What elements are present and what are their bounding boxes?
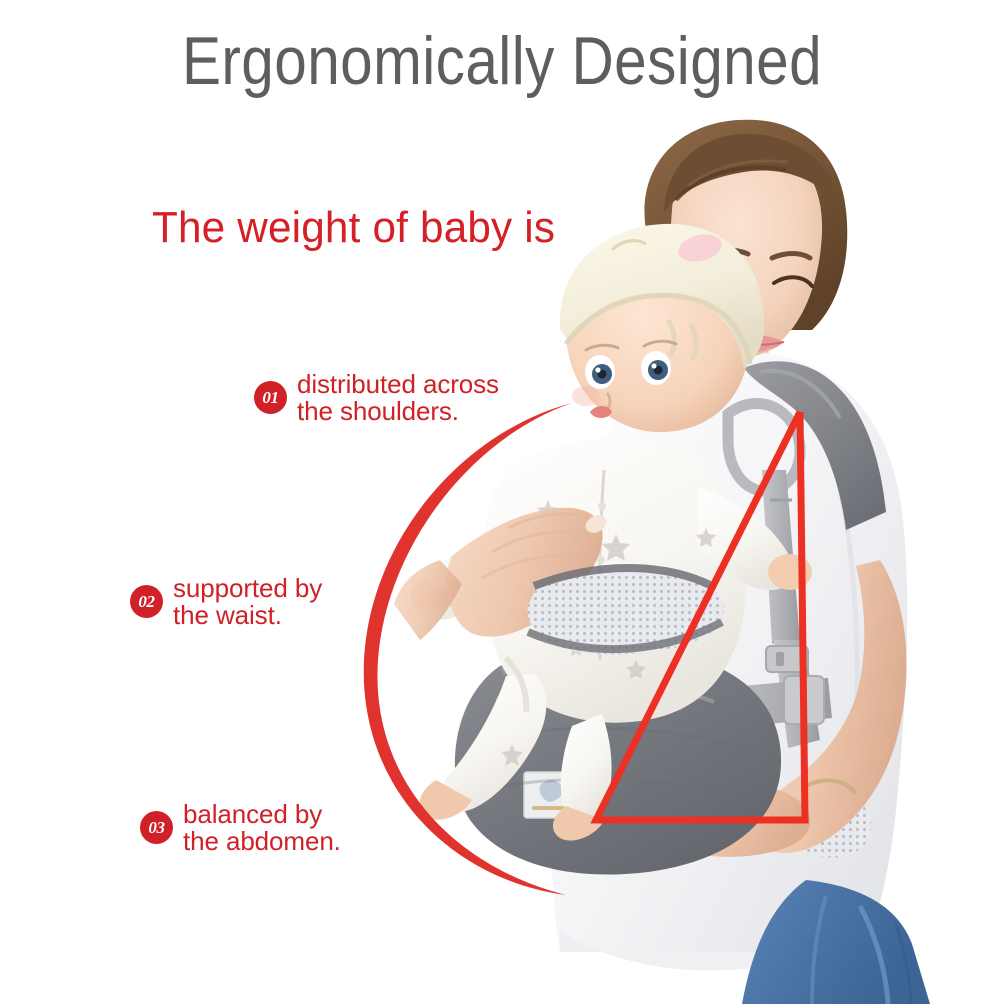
product-marketing-image: Ergonomically Designed The weight of bab… <box>0 0 1004 1004</box>
callout-waist: 02 supported by the waist. <box>130 575 322 629</box>
carrier-body-panel <box>527 568 724 654</box>
callout-badge-01: 01 <box>254 381 287 414</box>
subtitle: The weight of baby is <box>152 203 555 253</box>
page-title: Ergonomically Designed <box>70 22 933 100</box>
callout-shoulders: 01 distributed across the shoulders. <box>254 371 499 425</box>
callout-text-01: distributed across the shoulders. <box>297 371 499 425</box>
callout-badge-02: 02 <box>130 585 163 618</box>
callout-text-02: supported by the waist. <box>173 575 322 629</box>
callout-abdomen: 03 balanced by the abdomen. <box>140 801 341 855</box>
callout-text-03: balanced by the abdomen. <box>183 801 341 855</box>
callout-badge-03: 03 <box>140 811 173 844</box>
